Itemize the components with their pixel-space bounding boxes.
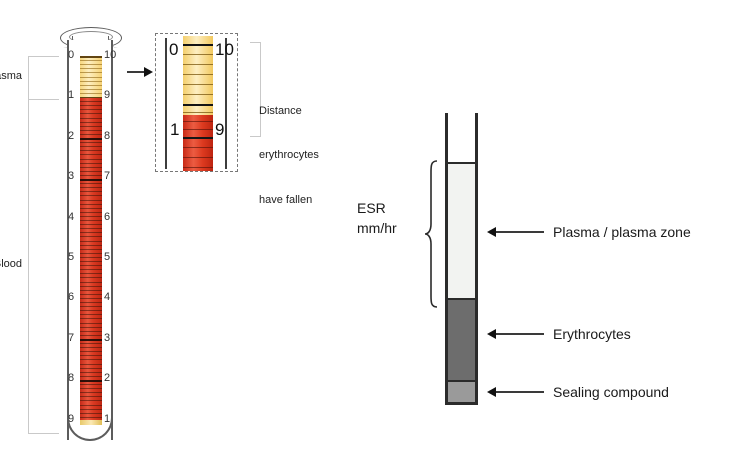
inset-number-top-left: 0 <box>169 40 178 60</box>
tube-graduation-tick <box>80 310 102 311</box>
tube-graduation-tick <box>80 208 102 209</box>
tube-graduation-tick <box>80 167 102 168</box>
large-test-tube: 010192837465564738291 Plasma Blood <box>0 0 150 462</box>
tube-scale-left-9: 9 <box>68 413 74 425</box>
erythrocytes-callout-line <box>496 333 544 335</box>
tube-bottom-cap <box>80 420 102 425</box>
inset-graduation-tick <box>183 64 213 65</box>
tube-graduation-tick <box>80 228 102 229</box>
distance-label-line-1: Distance <box>259 104 319 119</box>
plasma-zone-label: Plasma / plasma zone <box>553 224 691 240</box>
distance-label-line-3: have fallen <box>259 193 319 208</box>
tube-graduation-tick <box>80 56 102 58</box>
tube-graduation-tick <box>80 163 102 164</box>
blood-side-label: Blood <box>0 258 22 270</box>
tube-graduation-tick <box>80 290 102 291</box>
tube-scale-left-0: 0 <box>68 49 74 61</box>
tube-scale-right-9: 9 <box>104 89 110 101</box>
tube-scale-left-1: 1 <box>68 89 74 101</box>
tube-graduation-tick <box>80 298 102 299</box>
esr-tube-wall-right <box>475 113 478 405</box>
inset-graduation-tick <box>183 137 213 139</box>
tube-graduation-tick <box>80 396 102 397</box>
tube-graduation-tick <box>80 261 102 262</box>
distance-fallen-label: Distance erythrocytes have fallen <box>259 74 319 222</box>
inset-graduation-tick <box>183 167 213 168</box>
tube-graduation-tick <box>80 122 102 123</box>
sealing-compound-label: Sealing compound <box>553 384 669 400</box>
inset-graduation-tick <box>183 44 213 46</box>
tube-graduation-tick <box>80 179 102 181</box>
tube-scale-right-4: 4 <box>104 291 110 303</box>
inset-graduation-tick <box>183 94 213 95</box>
tube-graduation-tick <box>80 318 102 319</box>
distance-label-line-2: erythrocytes <box>259 148 319 163</box>
esr-sealing-zone <box>448 382 475 405</box>
tube-scale-right-5: 5 <box>104 251 110 263</box>
tube-graduation-tick <box>80 413 102 414</box>
tube-graduation-tick <box>80 183 102 184</box>
tube-graduation-tick <box>80 138 102 140</box>
inset-number-bottom-right: 9 <box>215 120 224 140</box>
tube-graduation-tick <box>80 380 102 382</box>
tube-scale-left-3: 3 <box>68 170 74 182</box>
tube-scale-right-8: 8 <box>104 130 110 142</box>
tube-graduation-tick <box>80 355 102 356</box>
tube-graduation-tick <box>80 216 102 217</box>
tube-scale-right-3: 3 <box>104 332 110 344</box>
sealing-callout-line <box>496 391 544 393</box>
inset-graduation-tick <box>183 147 213 148</box>
tube-scale-right-7: 7 <box>104 170 110 182</box>
tube-graduation-tick <box>80 269 102 270</box>
tube-graduation-tick <box>80 405 102 406</box>
tube-scale-right-2: 2 <box>104 372 110 384</box>
tube-graduation-tick <box>80 286 102 287</box>
tube-graduation-tick <box>80 113 102 114</box>
tube-graduation-tick <box>80 187 102 188</box>
tube-graduation-tick <box>80 126 102 127</box>
tube-graduation-tick <box>80 249 102 250</box>
inset-graduation-tick <box>183 54 213 55</box>
tube-graduation-tick <box>80 351 102 352</box>
blood-bracket <box>28 99 59 434</box>
tube-graduation-tick <box>80 384 102 385</box>
tube-graduation-tick <box>80 376 102 377</box>
plasma-callout-line <box>496 231 544 233</box>
tube-graduation-tick <box>80 159 102 160</box>
tube-graduation-tick <box>80 85 102 86</box>
tube-graduation-tick <box>80 236 102 237</box>
tube-graduation-tick <box>80 245 102 246</box>
tube-graduation-tick <box>80 142 102 143</box>
inset-graduation-tick <box>183 129 213 130</box>
magnified-inset: 0 10 1 9 <box>155 33 238 172</box>
tube-graduation-tick <box>80 220 102 221</box>
tube-graduation-tick <box>80 154 102 155</box>
tube-scale-left-6: 6 <box>68 291 74 303</box>
esr-label-line-2: mm/hr <box>357 218 397 238</box>
esr-measure-label: ESR mm/hr <box>357 198 397 239</box>
tube-graduation-tick <box>80 64 102 65</box>
tube-graduation-tick <box>80 253 102 254</box>
tube-graduation-tick <box>80 195 102 196</box>
inset-number-bottom-left: 1 <box>170 120 179 140</box>
tube-graduation-tick <box>80 77 102 78</box>
tube-scale-left-2: 2 <box>68 130 74 142</box>
tube-graduation-tick <box>80 72 102 73</box>
tube-scale-left-7: 7 <box>68 332 74 344</box>
tube-scale-right-1: 1 <box>104 413 110 425</box>
tube-graduation-tick <box>80 101 102 102</box>
tube-scale-right-10: 10 <box>104 49 116 61</box>
tube-graduation-tick <box>80 109 102 110</box>
tube-graduation-tick <box>80 335 102 336</box>
inset-graduation-tick <box>183 84 213 85</box>
tube-graduation-tick <box>80 257 102 258</box>
tube-graduation-tick <box>80 392 102 393</box>
tube-graduation-tick <box>80 331 102 332</box>
tube-graduation-tick <box>80 232 102 233</box>
plasma-bracket <box>28 56 59 100</box>
magnify-arrow-head <box>144 67 153 77</box>
tube-graduation-tick <box>80 241 102 242</box>
tube-graduation-tick <box>80 175 102 176</box>
tube-graduation-tick <box>80 339 102 341</box>
tube-plasma-column <box>80 56 102 98</box>
tube-graduation-tick <box>80 118 102 119</box>
magnify-arrow-line <box>127 71 145 73</box>
tube-graduation-tick <box>80 314 102 315</box>
tube-graduation-tick <box>80 282 102 283</box>
tube-graduation-tick <box>80 277 102 278</box>
plasma-side-label: Plasma <box>0 70 22 82</box>
esr-erythrocyte-zone <box>448 300 475 382</box>
inset-graduation-tick <box>183 104 213 106</box>
inset-blood-column <box>183 115 213 171</box>
inset-plasma-column <box>183 36 213 115</box>
tube-graduation-tick <box>80 191 102 192</box>
tube-graduation-tick <box>80 409 102 410</box>
inset-graduation-tick <box>183 157 213 158</box>
tube-graduation-tick <box>80 200 102 201</box>
tube-graduation-tick <box>80 400 102 401</box>
tube-graduation-tick <box>80 150 102 151</box>
tube-graduation-tick <box>80 359 102 360</box>
tube-graduation-tick <box>80 294 102 295</box>
esr-schematic-tube <box>445 113 478 405</box>
tube-graduation-tick <box>80 347 102 348</box>
tube-graduation-tick <box>80 130 102 131</box>
tube-graduation-tick <box>80 323 102 324</box>
inset-graduation-tick <box>183 121 213 122</box>
tube-graduation-tick <box>80 134 102 135</box>
tube-graduation-tick <box>80 388 102 389</box>
erythrocytes-callout-arrowhead <box>487 329 496 339</box>
plasma-callout-arrowhead <box>487 227 496 237</box>
tube-scale-right-6: 6 <box>104 211 110 223</box>
esr-label-line-1: ESR <box>357 198 397 218</box>
tube-graduation-tick <box>80 93 102 94</box>
tube-graduation-tick <box>80 146 102 147</box>
tube-graduation-tick <box>80 171 102 172</box>
tube-graduation-tick <box>80 60 102 61</box>
tube-scale-left-5: 5 <box>68 251 74 263</box>
tube-graduation-tick <box>80 204 102 205</box>
tube-graduation-tick <box>80 81 102 82</box>
tube-graduation-tick <box>80 273 102 274</box>
tube-graduation-tick <box>80 212 102 213</box>
tube-graduation-tick <box>80 105 102 106</box>
inset-wall-left <box>165 38 167 169</box>
sealing-callout-arrowhead <box>487 387 496 397</box>
tube-graduation-tick <box>80 364 102 365</box>
inset-number-top-right: 10 <box>215 40 234 60</box>
tube-graduation-tick <box>80 302 102 303</box>
esr-brace <box>424 160 438 308</box>
tube-graduation-tick <box>80 372 102 373</box>
tube-graduation-tick <box>80 68 102 69</box>
tube-graduation-tick <box>80 417 102 418</box>
tube-graduation-tick <box>80 306 102 307</box>
tube-graduation-tick <box>80 327 102 328</box>
tube-graduation-tick <box>80 265 102 266</box>
tube-graduation-tick <box>80 368 102 369</box>
tube-graduation-tick <box>80 224 102 225</box>
tube-blood-column <box>80 98 102 420</box>
esr-plasma-zone <box>448 162 475 300</box>
inset-graduation-tick <box>183 74 213 75</box>
tube-graduation-tick <box>80 343 102 344</box>
erythrocytes-label: Erythrocytes <box>553 326 631 342</box>
tube-graduation-tick <box>80 89 102 90</box>
tube-scale-left-4: 4 <box>68 211 74 223</box>
inset-graduation-tick <box>183 112 213 113</box>
tube-scale-left-8: 8 <box>68 372 74 384</box>
